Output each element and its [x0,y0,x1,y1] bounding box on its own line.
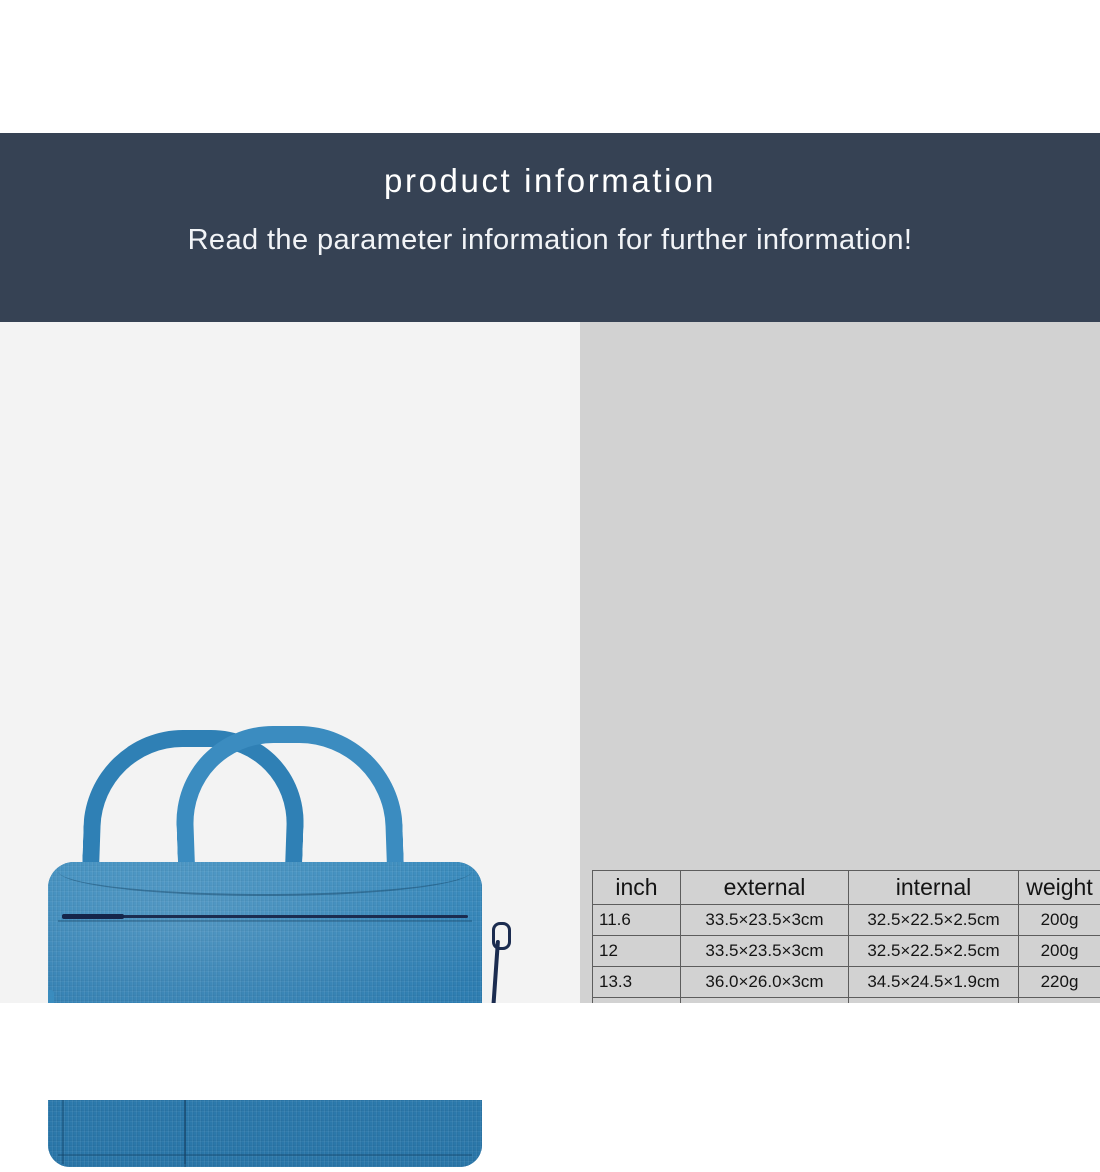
page-subtitle: Read the parameter information for furth… [0,221,1100,259]
cell-weight: 200g [1019,936,1100,967]
cell-internal: 34.5×24.5×1.9cm [849,967,1019,998]
table-row: 11.6 33.5×23.5×3cm 32.5×22.5×2.5cm 200g [593,905,1100,936]
cell-external: 36.0×26.0×3cm [681,967,849,998]
table-row: 13.3 36.0×26.0×3cm 34.5×24.5×1.9cm 220g [593,967,1100,998]
column-header-inch: inch [593,871,681,905]
cell-internal: 32.5×22.5×2.5cm [849,905,1019,936]
column-header-external: external [681,871,849,905]
cell-inch: 12 [593,936,681,967]
table-header: inch external internal weight [593,871,1100,905]
page-title: product information [0,161,1100,201]
top-white-margin [0,0,1100,133]
cell-internal: 32.5×22.5×2.5cm [849,936,1019,967]
cell-inch: 11.6 [593,905,681,936]
product-info-page: product information Read the parameter i… [0,0,1100,1100]
bag-bottom-seam [58,1154,472,1156]
laptop-bag-image [48,722,488,1172]
product-information-banner: product information Read the parameter i… [0,133,1100,322]
bottom-white-margin [0,1003,1100,1100]
bag-zipper-stop [62,914,124,919]
content-area: inch external internal weight 11.6 33.5×… [0,322,1100,1003]
cell-weight: 200g [1019,905,1100,936]
cell-external: 33.5×23.5×3cm [681,936,849,967]
cell-inch: 13.3 [593,967,681,998]
table-header-row: inch external internal weight [593,871,1100,905]
cell-weight: 220g [1019,967,1100,998]
column-header-weight: weight [1019,871,1100,905]
column-header-internal: internal [849,871,1019,905]
table-row: 12 33.5×23.5×3cm 32.5×22.5×2.5cm 200g [593,936,1100,967]
bag-pocket-seam [58,920,472,922]
zipper-pull-icon [492,922,506,1014]
cell-external: 33.5×23.5×3cm [681,905,849,936]
